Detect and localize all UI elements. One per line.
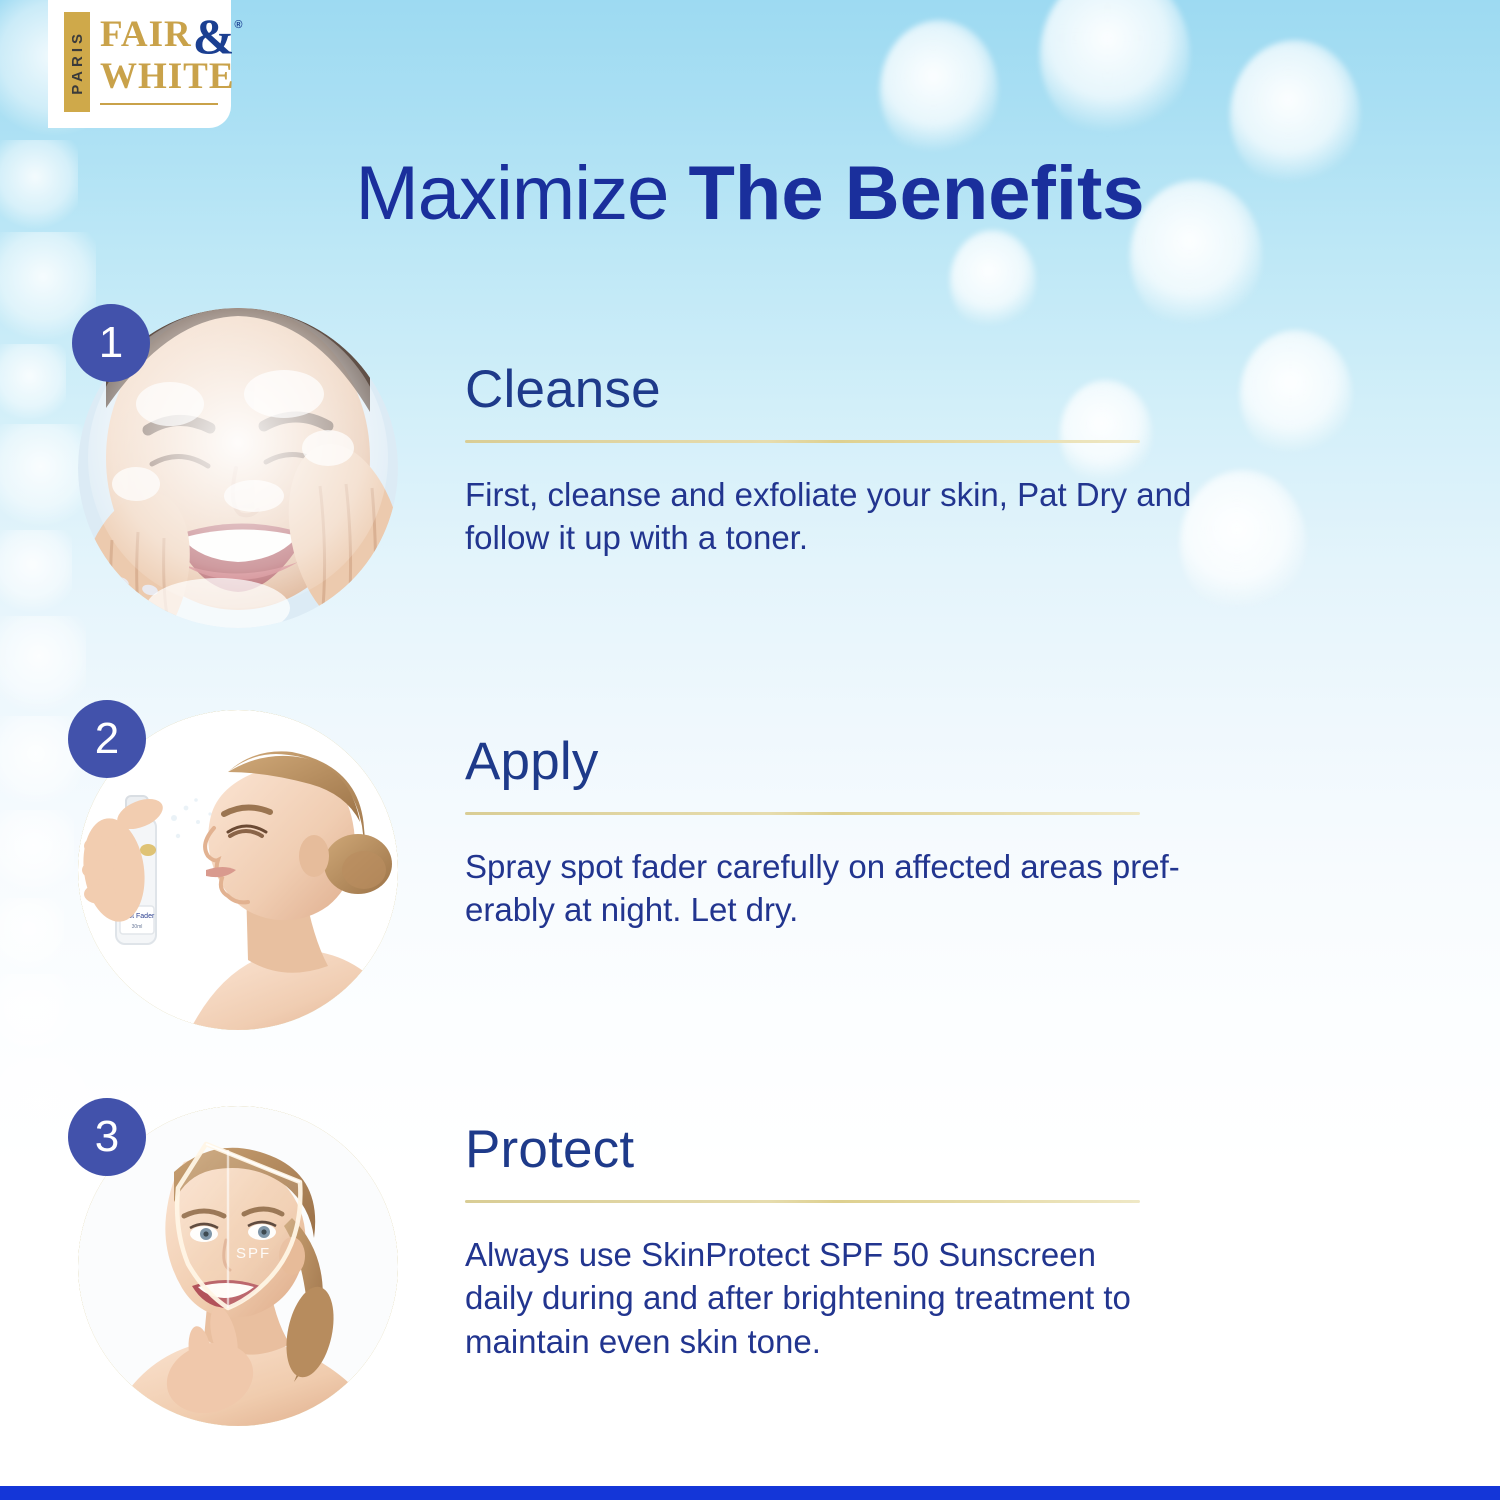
step-2-heading: Apply bbox=[465, 734, 1445, 790]
registered-trademark-icon: ® bbox=[234, 20, 242, 30]
step-1-heading: Cleanse bbox=[465, 362, 1445, 418]
footer-accent-bar bbox=[0, 1486, 1500, 1500]
logo-paris-bar: PARIS bbox=[64, 12, 90, 112]
step-3-number: 3 bbox=[95, 1112, 119, 1162]
step-1-number: 1 bbox=[99, 318, 123, 368]
page-title: Maximize The Benefits bbox=[0, 156, 1500, 232]
step-1-body-line: follow it up with a toner. bbox=[465, 516, 1445, 560]
page-title-bold: The Benefits bbox=[688, 151, 1144, 236]
step-3-body-line: daily during and after brightening treat… bbox=[465, 1276, 1445, 1320]
step-1-divider bbox=[465, 440, 1140, 443]
logo-white-text: WHITE bbox=[100, 55, 242, 98]
step-1-body: First, cleanse and exfoliate your skin, … bbox=[465, 473, 1445, 560]
step-3-body-line: maintain even skin tone. bbox=[465, 1320, 1445, 1364]
logo-fair-text: FAIR bbox=[100, 18, 192, 52]
step-2-body-line: erably at night. Let dry. bbox=[465, 888, 1445, 932]
step-1-number-badge: 1 bbox=[72, 304, 150, 382]
step-2-divider bbox=[465, 812, 1140, 815]
step-3-number-badge: 3 bbox=[68, 1098, 146, 1176]
step-1-text-block: Cleanse First, cleanse and exfoliate you… bbox=[465, 362, 1445, 560]
spf-shield-label: SPF bbox=[236, 1245, 271, 1262]
logo-ampersand-icon: & bbox=[193, 18, 235, 54]
brand-logo[interactable]: PARIS FAIR & ® WHITE bbox=[48, 0, 231, 128]
step-1-body-line: First, cleanse and exfoliate your skin, … bbox=[465, 473, 1445, 517]
step-2-body-line: Spray spot fader carefully on affected a… bbox=[465, 845, 1445, 889]
step-2-number-badge: 2 bbox=[68, 700, 146, 778]
step-2-number: 2 bbox=[95, 714, 119, 764]
logo-underline-rule bbox=[100, 103, 218, 105]
step-3-body: Always use SkinProtect SPF 50 Sunscreen … bbox=[465, 1233, 1445, 1364]
step-3-heading: Protect bbox=[465, 1122, 1445, 1178]
step-3-body-line: Always use SkinProtect SPF 50 Sunscreen bbox=[465, 1233, 1445, 1277]
step-3-divider bbox=[465, 1200, 1140, 1203]
svg-text:30ml: 30ml bbox=[132, 924, 143, 930]
step-2-text-block: Apply Spray spot fader carefully on affe… bbox=[465, 734, 1445, 932]
logo-paris-text: PARIS bbox=[69, 30, 86, 95]
step-3-text-block: Protect Always use SkinProtect SPF 50 Su… bbox=[465, 1122, 1445, 1363]
step-2-body: Spray spot fader carefully on affected a… bbox=[465, 845, 1445, 932]
page-title-light: Maximize bbox=[355, 151, 688, 236]
